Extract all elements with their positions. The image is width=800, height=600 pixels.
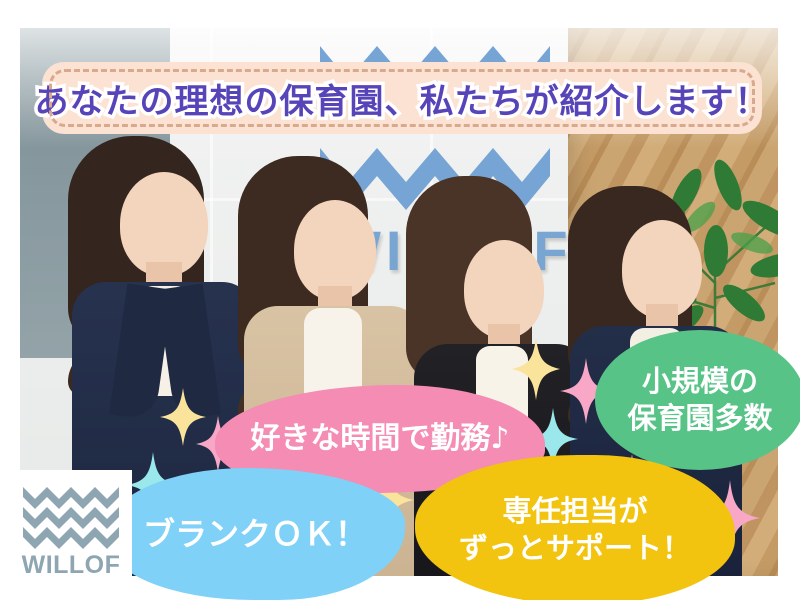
face <box>120 172 208 276</box>
bubble-dedicated-support: 専任担当が ずっとサポート！ <box>415 455 735 600</box>
willof-logo-badge: WILLOF <box>10 470 132 592</box>
headline-banner: あなたの理想の保育園、私たちが紹介します！ <box>42 62 762 134</box>
willof-wordmark: WILLOF <box>22 553 121 578</box>
sparkle-icon <box>512 338 560 400</box>
face <box>294 200 376 300</box>
bubble-career-gap-ok: ブランクＯＫ！ <box>105 468 405 600</box>
willof-chevron-icon <box>23 485 119 549</box>
advertisement-banner: WILLOF <box>0 0 800 600</box>
bubble-small-nurseries: 小規模の 保育園多数 <box>595 330 800 470</box>
headline-text: あなたの理想の保育園、私たちが紹介します！ <box>42 62 762 134</box>
